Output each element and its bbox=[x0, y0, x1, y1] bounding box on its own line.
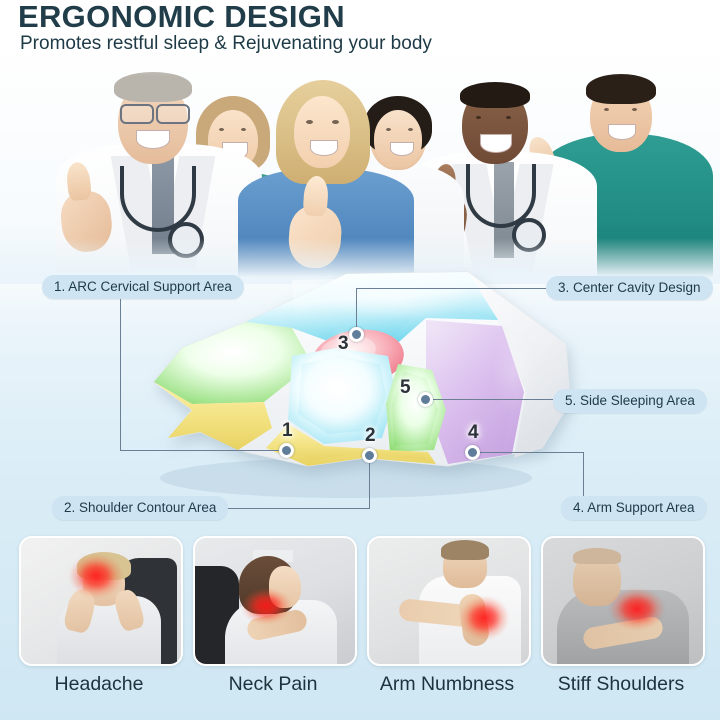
pain-indicator-neck bbox=[241, 588, 291, 624]
zone-number-2: 2 bbox=[365, 426, 376, 445]
symptom-card-stiff-shoulders[interactable] bbox=[541, 536, 705, 666]
callout-2-shoulder-contour-area[interactable]: 2. Shoulder Contour Area bbox=[52, 496, 228, 520]
zone-marker-3[interactable] bbox=[349, 327, 364, 342]
leader-line-2-vertical bbox=[369, 455, 370, 509]
leader-line-5-horizontal bbox=[425, 399, 553, 400]
leader-line-1-vertical bbox=[120, 295, 121, 451]
callout-3-center-cavity-design[interactable]: 3. Center Cavity Design bbox=[546, 276, 713, 300]
zone-number-5: 5 bbox=[400, 378, 411, 397]
callout-1-arc-cervical-support-area[interactable]: 1. ARC Cervical Support Area bbox=[42, 275, 244, 299]
symptom-photo-headache bbox=[21, 538, 181, 664]
zone-marker-1[interactable] bbox=[279, 443, 294, 458]
pain-indicator-forehead bbox=[69, 554, 123, 598]
leader-line-2-horizontal bbox=[228, 508, 370, 509]
zone-marker-2[interactable] bbox=[362, 448, 377, 463]
symptom-photo-arm-numbness bbox=[369, 538, 529, 664]
symptom-photo-stiff-shoulders bbox=[543, 538, 703, 664]
leader-line-4-horizontal bbox=[478, 452, 584, 453]
pain-indicator-upper-arm bbox=[459, 596, 509, 640]
zone-number-1: 1 bbox=[282, 421, 293, 440]
page-subtitle: Promotes restful sleep & Rejuvenating yo… bbox=[20, 32, 432, 56]
zone-marker-4[interactable] bbox=[465, 445, 480, 460]
leader-line-3-horizontal bbox=[356, 288, 546, 289]
symptom-photo-neck-pain bbox=[195, 538, 355, 664]
eyeglasses-icon bbox=[156, 104, 190, 124]
symptom-label-headache: Headache bbox=[19, 672, 179, 696]
eyeglasses-icon bbox=[120, 104, 154, 124]
zone-number-4: 4 bbox=[468, 423, 479, 442]
symptom-card-neck-pain[interactable] bbox=[193, 536, 357, 666]
page-title: ERGONOMIC DESIGN bbox=[18, 0, 345, 34]
zone-number-3: 3 bbox=[338, 334, 349, 353]
symptom-label-stiff-shoulders: Stiff Shoulders bbox=[541, 672, 701, 696]
infographic-page: ERGONOMIC DESIGN Promotes restful sleep … bbox=[0, 0, 720, 720]
callout-5-side-sleeping-area[interactable]: 5. Side Sleeping Area bbox=[553, 389, 707, 413]
callout-4-arm-support-area[interactable]: 4. Arm Support Area bbox=[561, 496, 707, 520]
medical-team-banner bbox=[0, 36, 720, 284]
symptom-card-row: Headache Neck Pain bbox=[0, 532, 720, 720]
symptom-card-arm-numbness[interactable] bbox=[367, 536, 531, 666]
zone-marker-5[interactable] bbox=[418, 392, 433, 407]
leader-line-1-horizontal bbox=[120, 450, 286, 451]
symptom-card-headache[interactable] bbox=[19, 536, 183, 666]
symptom-label-arm-numbness: Arm Numbness bbox=[367, 672, 527, 696]
pain-indicator-shoulder bbox=[609, 588, 665, 630]
symptom-label-neck-pain: Neck Pain bbox=[193, 672, 353, 696]
